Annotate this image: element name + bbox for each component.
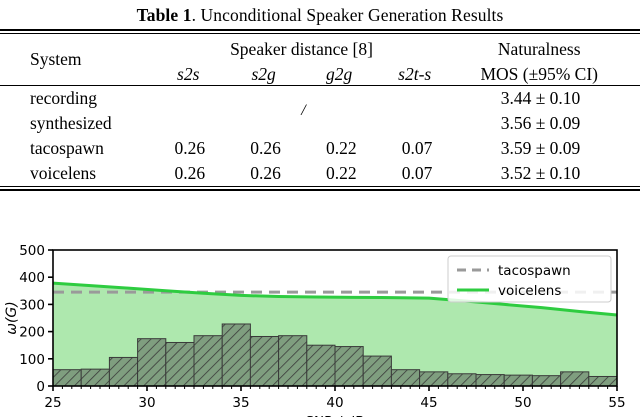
header-s2t-s: s2t-s bbox=[377, 60, 453, 85]
cell-system: tacospawn bbox=[14, 136, 152, 161]
table-row: voicelens 0.26 0.26 0.22 0.07 3.52 ± 0.1… bbox=[14, 161, 626, 186]
table-caption-text: Unconditional Speaker Generation Results bbox=[201, 5, 504, 25]
y-tick-label: 300 bbox=[19, 297, 45, 313]
y-tick-label: 500 bbox=[19, 243, 45, 259]
cell-system: synthesized bbox=[14, 111, 152, 136]
histogram-bar bbox=[250, 336, 278, 386]
x-tick-label: 40 bbox=[326, 395, 343, 411]
histogram-bar bbox=[222, 324, 250, 386]
legend-label-tacospawn: tacospawn bbox=[498, 263, 571, 279]
table-bottom-rule bbox=[0, 186, 640, 191]
chart-canvas: 010020030040050025303540455055SNR / dBω(… bbox=[0, 232, 640, 417]
header-speaker-distance: Speaker distance [8] bbox=[151, 34, 453, 60]
x-tick-label: 30 bbox=[138, 395, 155, 411]
histogram-bar bbox=[420, 372, 448, 386]
header-mos: MOS (±95% CI) bbox=[452, 60, 626, 85]
histogram-bar bbox=[194, 336, 222, 386]
table-1-block: Table 1. Unconditional Speaker Generatio… bbox=[0, 0, 640, 191]
table-header-group-row: System Speaker distance [8] Naturalness bbox=[14, 34, 626, 60]
histogram-bar bbox=[589, 376, 617, 386]
header-naturalness: Naturalness bbox=[452, 34, 626, 60]
snr-chart-figure: 010020030040050025303540455055SNR / dBω(… bbox=[0, 232, 640, 417]
chart-legend[interactable]: tacospawnvoicelens bbox=[448, 256, 611, 302]
histogram-bar bbox=[363, 356, 391, 386]
y-tick-label: 200 bbox=[19, 325, 45, 341]
histogram-bar bbox=[138, 339, 166, 386]
cell-system: recording bbox=[14, 86, 152, 111]
results-table: System Speaker distance [8] Naturalness … bbox=[14, 34, 626, 85]
results-table-body: recording / 3.44 ± 0.10 synthesized 3.56… bbox=[14, 86, 626, 186]
cell-system: voicelens bbox=[14, 161, 152, 186]
table-caption-label: Table 1 bbox=[137, 5, 192, 25]
cell-mos: 3.59 ± 0.09 bbox=[455, 136, 626, 161]
histogram-bar bbox=[335, 347, 363, 386]
cell-g2g: 0.22 bbox=[303, 161, 379, 186]
histogram-bar bbox=[391, 370, 419, 386]
histogram-bar bbox=[532, 376, 560, 386]
cell-s2t-s: 0.07 bbox=[379, 136, 455, 161]
histogram-bar bbox=[53, 370, 81, 386]
cell-mos: 3.56 ± 0.09 bbox=[455, 111, 626, 136]
y-tick-label: 100 bbox=[19, 352, 45, 368]
cell-s2g: 0.26 bbox=[228, 136, 304, 161]
cell-s2g: 0.26 bbox=[228, 161, 304, 186]
x-tick-label: 45 bbox=[420, 395, 437, 411]
table-caption: Table 1. Unconditional Speaker Generatio… bbox=[0, 0, 640, 27]
cell-not-applicable: / bbox=[152, 86, 455, 136]
x-tick-label: 35 bbox=[232, 395, 249, 411]
cell-g2g: 0.22 bbox=[303, 136, 379, 161]
y-tick-label: 400 bbox=[19, 270, 45, 286]
cell-mos: 3.44 ± 0.10 bbox=[455, 86, 626, 111]
cell-s2s: 0.26 bbox=[152, 136, 228, 161]
table-row: recording / 3.44 ± 0.10 bbox=[14, 86, 626, 111]
histogram-bar bbox=[504, 375, 532, 386]
histogram-bar bbox=[561, 372, 589, 386]
y-tick-label: 0 bbox=[36, 379, 45, 395]
y-axis-label: ω(G) bbox=[4, 301, 20, 335]
histogram-bar bbox=[279, 336, 307, 386]
histogram-bar bbox=[476, 375, 504, 386]
table-row: tacospawn 0.26 0.26 0.22 0.07 3.59 ± 0.0… bbox=[14, 136, 626, 161]
x-tick-label: 25 bbox=[44, 395, 61, 411]
cell-s2s: 0.26 bbox=[152, 161, 228, 186]
paper-figure-page: Table 1. Unconditional Speaker Generatio… bbox=[0, 0, 640, 417]
histogram-bar bbox=[307, 345, 335, 386]
cell-mos: 3.52 ± 0.10 bbox=[455, 161, 626, 186]
header-system: System bbox=[14, 34, 151, 85]
x-tick-label: 50 bbox=[514, 395, 531, 411]
histogram-bar bbox=[166, 342, 194, 386]
cell-s2t-s: 0.07 bbox=[379, 161, 455, 186]
x-tick-label: 55 bbox=[608, 395, 625, 411]
header-s2s: s2s bbox=[151, 60, 226, 85]
legend-label-voicelens: voicelens bbox=[498, 283, 561, 299]
header-g2g: g2g bbox=[301, 60, 377, 85]
histogram-bar bbox=[448, 374, 476, 386]
histogram-bar bbox=[81, 369, 109, 386]
histogram-bar bbox=[109, 357, 137, 386]
table-caption-separator: . bbox=[192, 5, 201, 25]
header-s2g: s2g bbox=[226, 60, 301, 85]
